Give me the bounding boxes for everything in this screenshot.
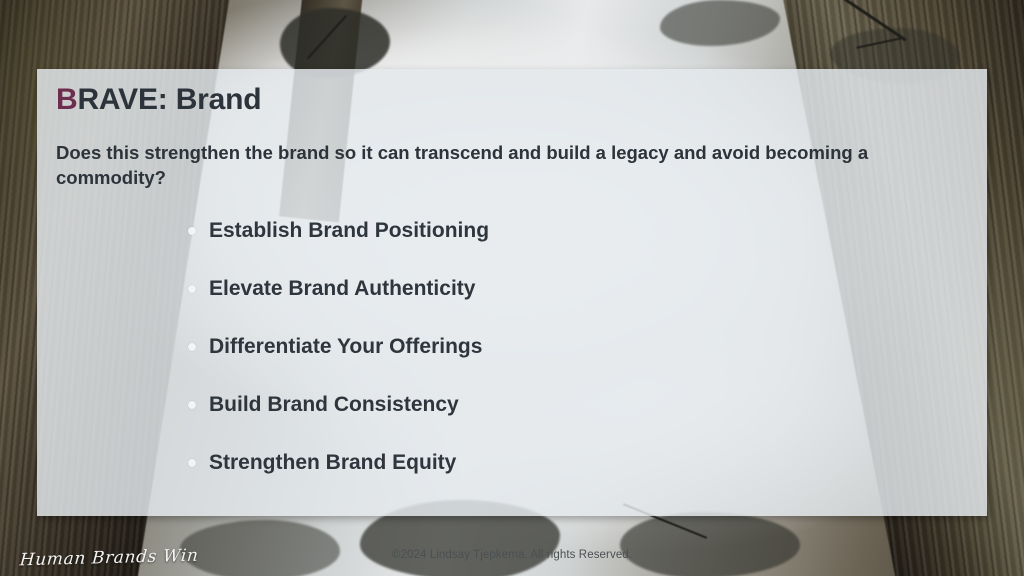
bullet-dot-icon (188, 459, 196, 467)
list-item-label: Strengthen Brand Equity (209, 451, 456, 474)
list-item: Build Brand Consistency (187, 393, 967, 451)
list-item: Elevate Brand Authenticity (187, 277, 967, 335)
bullet-list: Establish Brand Positioning Elevate Bran… (187, 219, 967, 509)
list-item: Strengthen Brand Equity (187, 451, 967, 509)
bullet-dot-icon (188, 227, 196, 235)
list-item-label: Build Brand Consistency (209, 393, 459, 416)
list-item-label: Establish Brand Positioning (209, 219, 489, 242)
content-panel: BRAVE: Brand Does this strengthen the br… (37, 69, 987, 516)
list-item: Establish Brand Positioning (187, 219, 967, 277)
copyright-notice: ©2024 Lindsay Tjepkema. All rights Reser… (0, 549, 1024, 561)
bullet-dot-icon (188, 285, 196, 293)
slide-title-accent-letter: B (56, 83, 77, 116)
bullet-dot-icon (188, 401, 196, 409)
list-item: Differentiate Your Offerings (187, 335, 967, 393)
foliage-silhouette (180, 520, 340, 576)
slide-question-text: Does this strengthen the brand so it can… (56, 141, 968, 191)
slide-title-rest: RAVE: Brand (77, 83, 261, 116)
foliage-silhouette (620, 512, 800, 576)
foliage-silhouette (660, 0, 780, 46)
slide-title: BRAVE: Brand (56, 83, 261, 117)
presentation-slide: BRAVE: Brand Does this strengthen the br… (0, 0, 1024, 576)
list-item-label: Differentiate Your Offerings (209, 335, 482, 358)
bullet-dot-icon (188, 343, 196, 351)
foliage-silhouette (280, 8, 390, 78)
list-item-label: Elevate Brand Authenticity (209, 277, 475, 300)
